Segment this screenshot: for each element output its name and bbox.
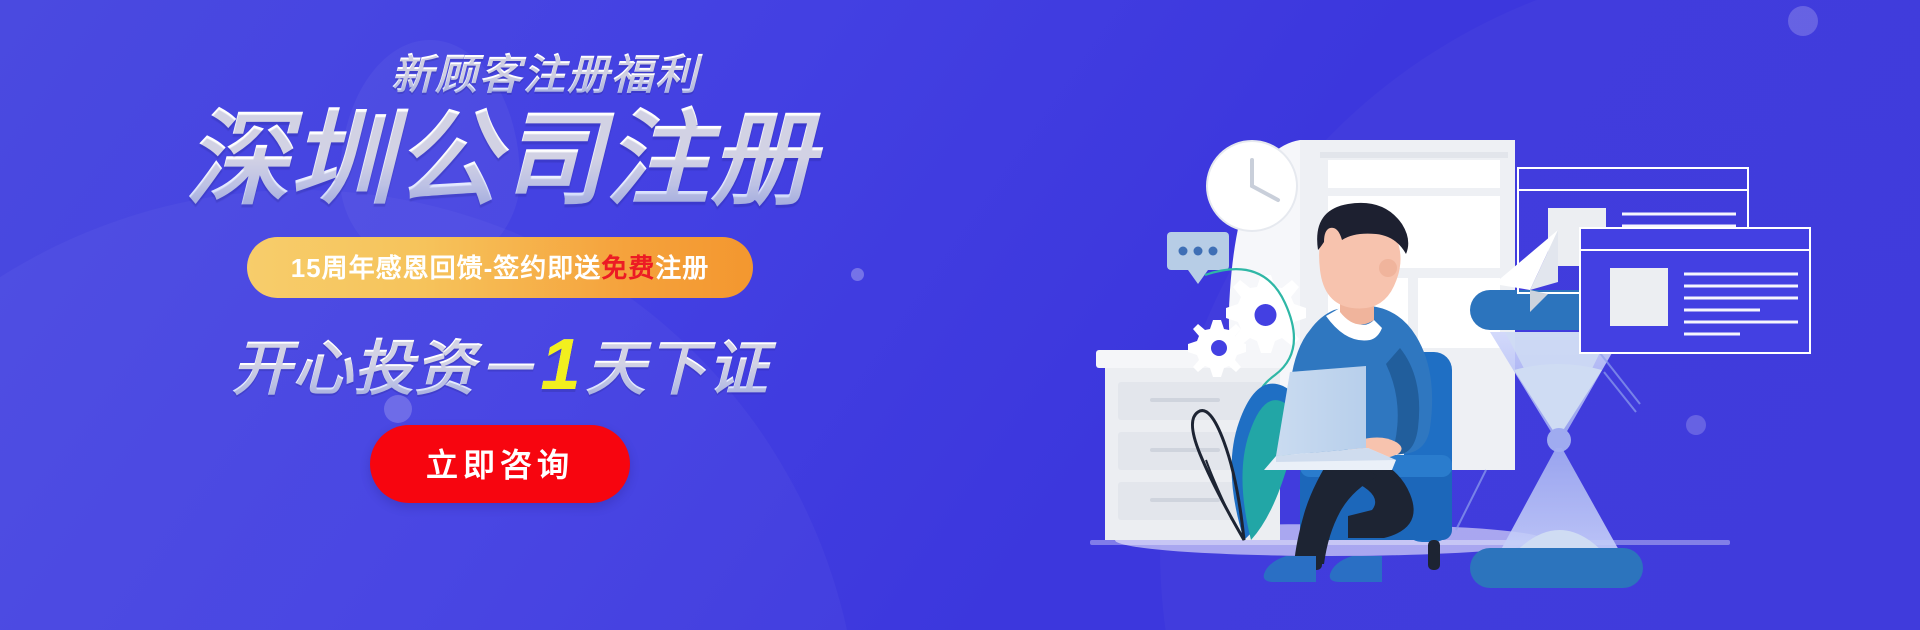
wall-clock-icon [1207, 141, 1297, 231]
banner-eyebrow: 新顾客注册福利 [0, 52, 1000, 98]
promo-pill-suffix: 注册 [655, 253, 709, 283]
subline-suffix: 天下证 [586, 335, 769, 402]
promo-pill-prefix: 15周年感恩回馈-签约即送 [291, 253, 602, 283]
chat-bubble-icon [1167, 232, 1229, 284]
promo-pill-badge: 15周年感恩回馈-签约即送免费注册 [247, 237, 754, 298]
gear-small-icon [1188, 320, 1246, 377]
banner-headline: 深圳公司注册 [0, 104, 1000, 216]
promo-pill-highlight: 免费 [601, 253, 655, 283]
banner-subline: 开心投资－1天下证 [0, 320, 1000, 407]
document-card-icon [1580, 228, 1810, 353]
consult-now-button[interactable]: 立即咨询 [370, 425, 630, 503]
subline-prefix: 开心投资－ [231, 335, 536, 402]
subline-number: 1 [536, 325, 585, 405]
banner-copy-block: 新顾客注册福利 深圳公司注册 15周年感恩回馈-签约即送免费注册 开心投资－1天… [0, 52, 1000, 503]
promo-banner: 新顾客注册福利 深圳公司注册 15周年感恩回馈-签约即送免费注册 开心投资－1天… [0, 0, 1920, 630]
